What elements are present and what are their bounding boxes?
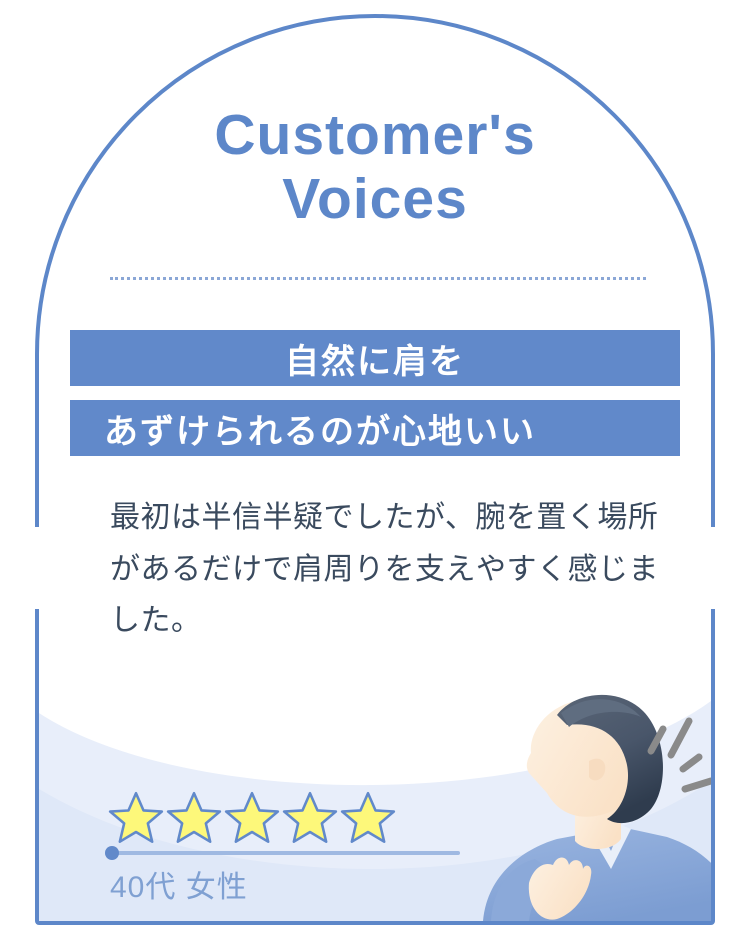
headline-banner-primary-text: 自然に肩を	[285, 334, 465, 383]
rating-stars	[108, 790, 396, 846]
star-icon	[340, 790, 396, 846]
star-icon	[166, 790, 222, 846]
customer-illustration	[471, 669, 711, 921]
headline-banner-secondary: あずけられるのが心地いい	[70, 400, 680, 456]
frame-notch-right	[705, 527, 719, 609]
star-icon	[224, 790, 280, 846]
star-icon	[108, 790, 164, 846]
page-title: Customer's Voices	[0, 104, 750, 232]
testimonial-card-stage: Customer's Voices 自然に肩を あずけられるのが心地いい 最初は…	[0, 0, 750, 940]
rating-dot-icon	[105, 846, 119, 860]
title-line-2: Voices	[0, 168, 750, 232]
dotted-divider-icon	[110, 277, 646, 280]
title-line-1: Customer's	[214, 103, 535, 167]
headline-banner-primary: 自然に肩を	[70, 330, 680, 386]
star-icon	[282, 790, 338, 846]
frame-notch-left	[31, 527, 45, 609]
headline-banner-secondary-text: あずけられるのが心地いい	[104, 404, 536, 453]
reviewer-label: 40代 女性	[110, 862, 248, 906]
rating-rule	[110, 851, 460, 855]
testimonial-body: 最初は半信半疑でしたが、腕を置く場所があるだけで肩周りを支えやすく感じました。	[110, 492, 662, 647]
